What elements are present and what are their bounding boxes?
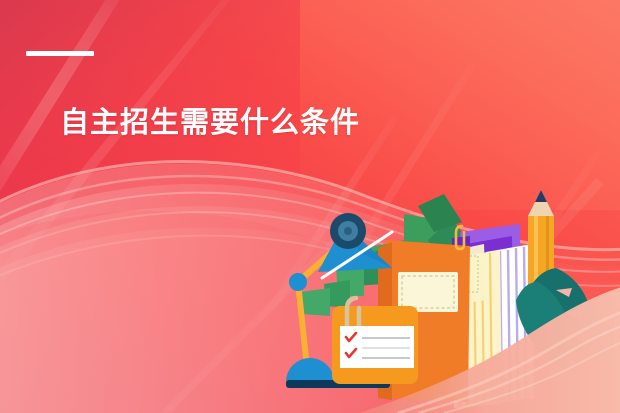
promo-banner: 自主招生需要什么条件 bbox=[0, 0, 620, 413]
title-divider bbox=[26, 51, 94, 56]
page-title: 自主招生需要什么条件 bbox=[60, 103, 360, 143]
foreground-wave-sweep bbox=[0, 0, 620, 413]
